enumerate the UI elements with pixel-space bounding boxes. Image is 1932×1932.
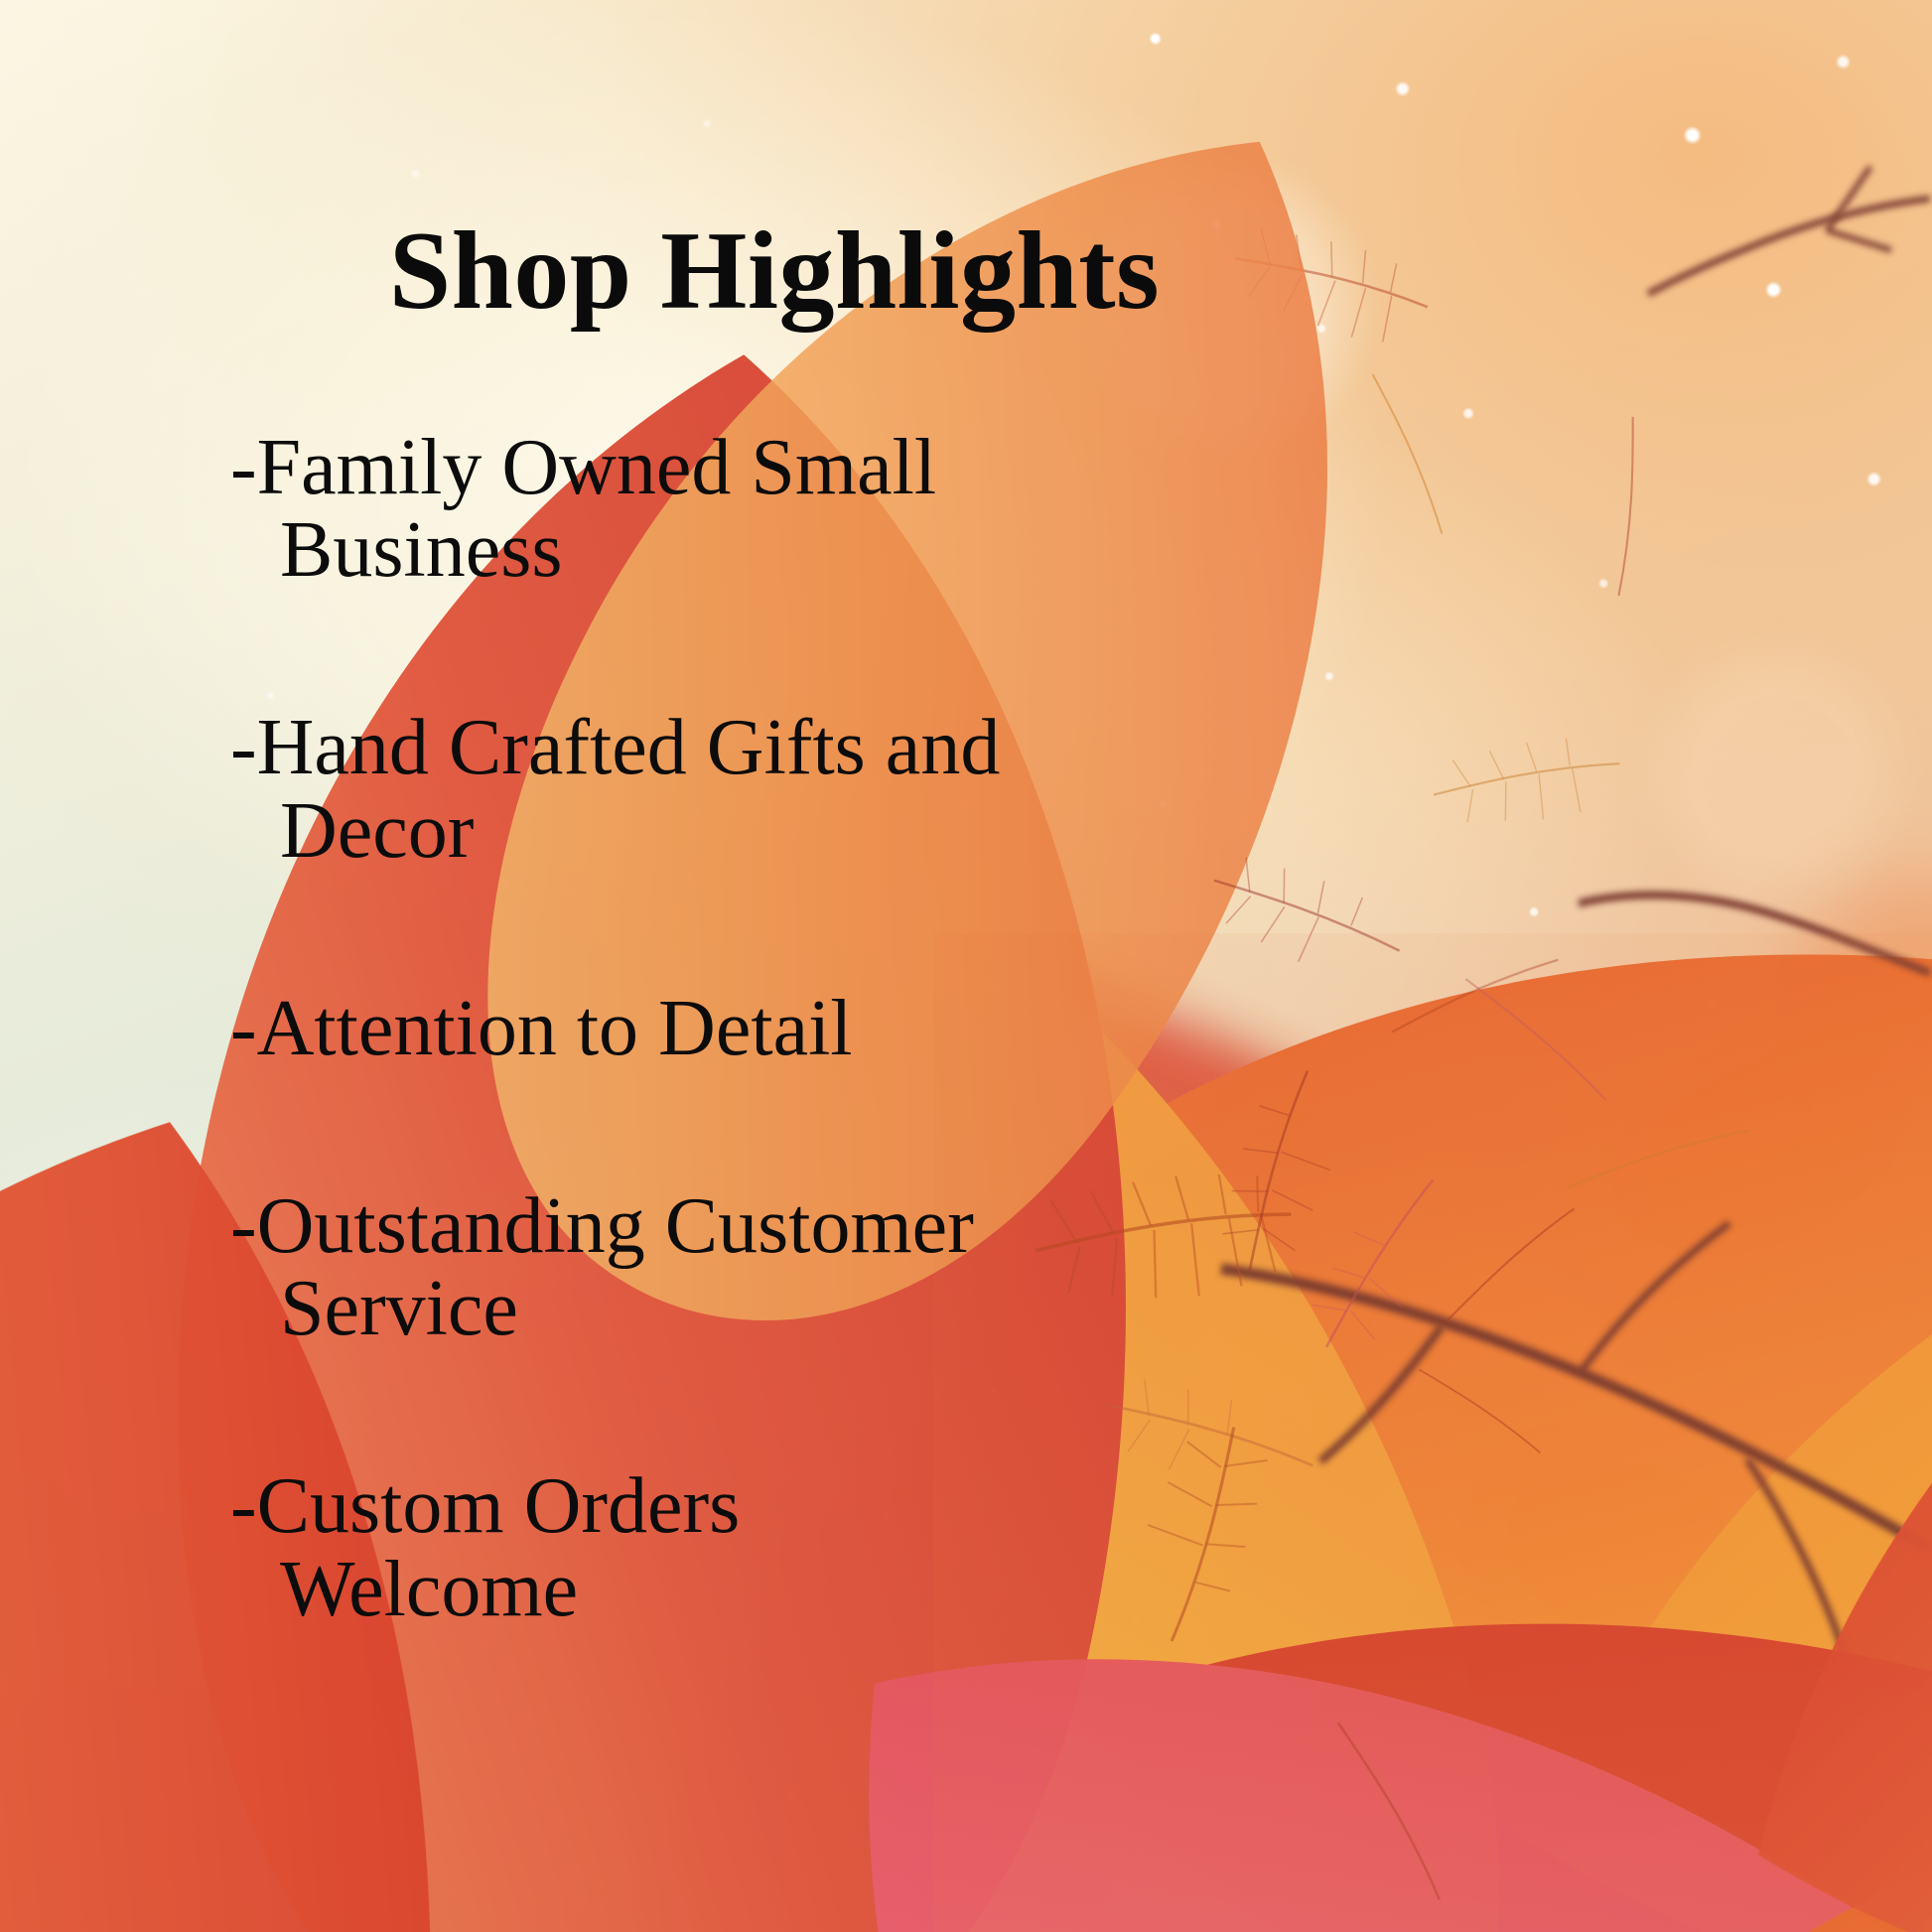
poster-content: Shop Highlights -Family Owned Small Busi… [0,0,1932,1932]
highlight-list: -Family Owned Small Business -Hand Craft… [230,427,1471,1631]
poster-canvas: Shop Highlights -Family Owned Small Busi… [0,0,1932,1932]
list-item: -Outstanding Customer Service [230,1185,1471,1350]
page-title: Shop Highlights [0,213,1549,331]
list-item: -Family Owned Small Business [230,427,1471,592]
list-item: -Custom Orders Welcome [230,1465,1471,1630]
list-item: -Attention to Detail [230,988,1471,1070]
list-item: -Hand Crafted Gifts and Decor [230,707,1471,872]
